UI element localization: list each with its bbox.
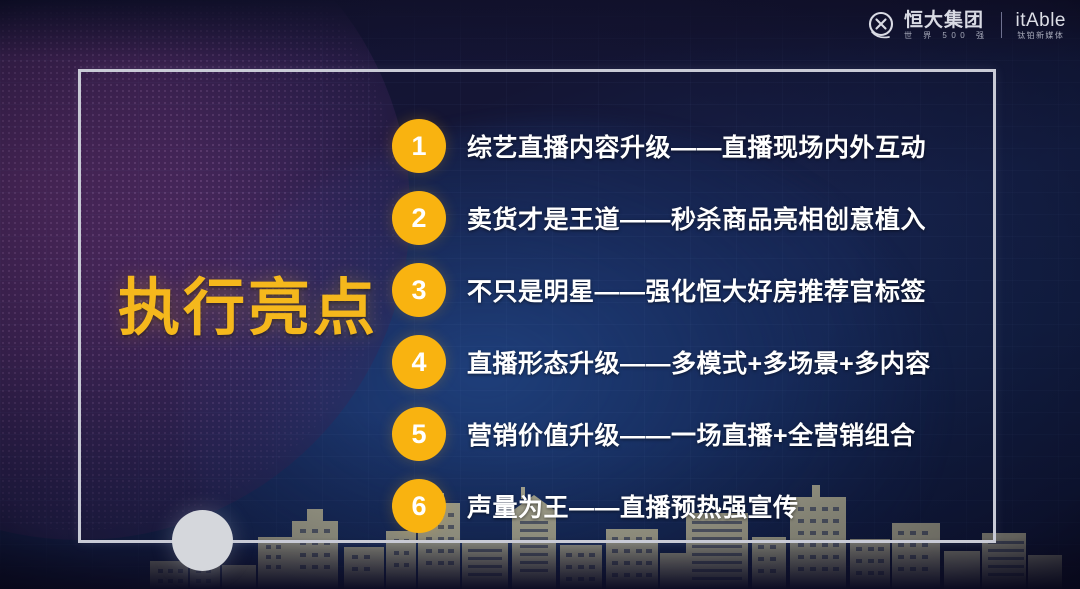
evergrande-logo-text: 恒大集团 世 界 500 强 [904, 11, 989, 40]
point-number-badge: 1 [392, 119, 446, 173]
point-text: 直播形态升级——多模式+多场景+多内容 [467, 344, 931, 380]
point-number-badge: 4 [392, 335, 446, 389]
point-text: 不只是明星——强化恒大好房推荐官标签 [467, 272, 926, 308]
point-number-badge: 5 [392, 407, 446, 461]
slide-title: 执行亮点 [118, 278, 378, 340]
point-text: 卖货才是王道——秒杀商品亮相创意植入 [467, 200, 926, 236]
point-number-badge: 6 [392, 479, 446, 533]
highlights-list: 1 综艺直播内容升级——直播现场内外互动 2 卖货才是王道——秒杀商品亮相创意植… [392, 110, 972, 542]
list-item: 5 营销价值升级——一场直播+全营销组合 [392, 398, 972, 470]
evergrande-logo: 恒大集团 世 界 500 强 [867, 10, 989, 40]
list-item: 6 声量为王——直播预热强宣传 [392, 470, 972, 542]
point-text: 营销价值升级——一场直播+全营销组合 [467, 416, 916, 452]
logo-divider [1001, 12, 1002, 38]
point-number-badge: 2 [392, 191, 446, 245]
point-text: 综艺直播内容升级——直播现场内外互动 [467, 128, 926, 164]
evergrande-logo-icon [867, 10, 897, 40]
evergrande-subtitle: 世 界 500 强 [904, 32, 989, 40]
moon-circle-decoration [172, 510, 233, 571]
itable-name: itAble [1015, 11, 1066, 30]
itable-subtitle: 钛铂新媒体 [1017, 32, 1064, 40]
list-item: 3 不只是明星——强化恒大好房推荐官标签 [392, 254, 972, 326]
presentation-slide: 恒大集团 世 界 500 强 itAble 钛铂新媒体 执行亮点 1 综艺直播内… [0, 0, 1080, 589]
header-logo-group: 恒大集团 世 界 500 强 itAble 钛铂新媒体 [867, 4, 1066, 46]
list-item: 4 直播形态升级——多模式+多场景+多内容 [392, 326, 972, 398]
list-item: 2 卖货才是王道——秒杀商品亮相创意植入 [392, 182, 972, 254]
evergrande-name: 恒大集团 [904, 11, 989, 30]
point-text: 声量为王——直播预热强宣传 [467, 488, 799, 524]
point-number-badge: 3 [392, 263, 446, 317]
list-item: 1 综艺直播内容升级——直播现场内外互动 [392, 110, 972, 182]
itable-logo: itAble 钛铂新媒体 [1015, 11, 1066, 40]
